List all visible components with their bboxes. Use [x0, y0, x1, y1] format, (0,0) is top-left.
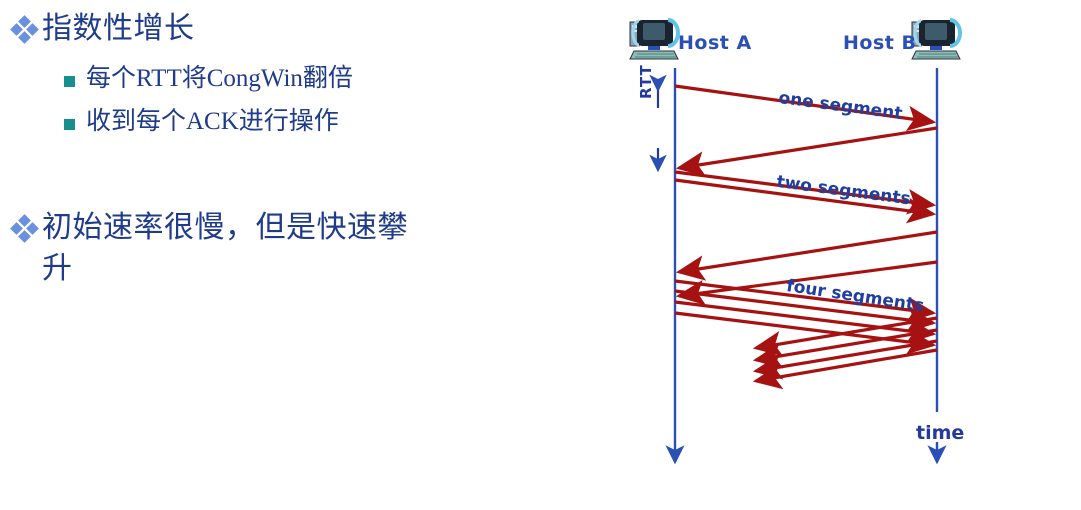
bullet-text: 每个RTT将CongWin翻倍	[86, 62, 353, 96]
slide-body: 指数性增长 每个RTT将CongWin翻倍 收到每个ACK进行操作 初始速率很慢…	[0, 0, 600, 510]
square-bullet-icon	[62, 74, 86, 98]
bullet-item-3: 收到每个ACK进行操作	[62, 105, 562, 141]
host-a-label: Host A	[678, 32, 752, 54]
diagram-canvas	[600, 0, 1081, 510]
bullet-item-1: 指数性增长	[8, 8, 568, 49]
msg-arrow	[679, 128, 937, 168]
host-b-label: Host B	[843, 32, 916, 54]
computer-icon	[912, 20, 960, 59]
diamond-bullet-icon	[8, 14, 42, 48]
tcp-slow-start-diagram: Host A Host B one segment two segments f…	[600, 0, 1081, 510]
bullet-text: 收到每个ACK进行操作	[86, 105, 339, 139]
bullet-item-4: 初始速率很慢，但是快速攀升	[8, 207, 438, 289]
bullet-item-2: 每个RTT将CongWin翻倍	[62, 62, 562, 98]
time-axis-label: time	[916, 422, 964, 444]
computer-icon	[630, 20, 678, 59]
rtt-label: RTT	[637, 64, 655, 99]
message-arrows	[675, 86, 937, 381]
square-bullet-icon	[62, 117, 86, 141]
bullet-text: 指数性增长	[42, 8, 195, 49]
bullet-text: 初始速率很慢，但是快速攀升	[42, 207, 438, 289]
diamond-bullet-icon	[8, 213, 42, 247]
